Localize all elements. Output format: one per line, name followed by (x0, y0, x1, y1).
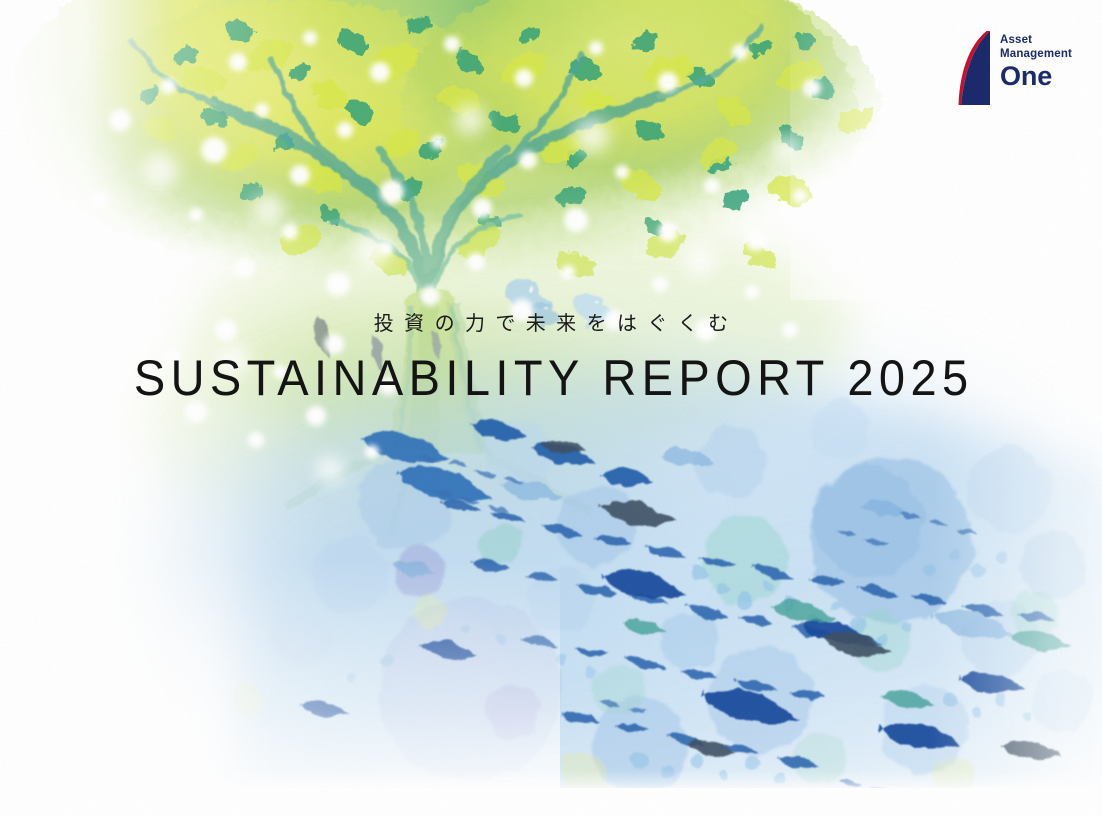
cover-artwork (0, 0, 1102, 816)
logo-wordmark: Asset Management One (1000, 31, 1072, 90)
report-cover-page: 投資の力で未来をはぐくむ SUSTAINABILITY REPORT 2025 … (0, 0, 1102, 816)
logo-line-management: Management (1000, 47, 1072, 61)
logo-line-one: One (1000, 62, 1072, 90)
asset-management-one-logo[interactable]: Asset Management One (957, 31, 1089, 107)
logo-sail-mark (957, 31, 991, 105)
logo-line-asset: Asset (1000, 33, 1072, 47)
